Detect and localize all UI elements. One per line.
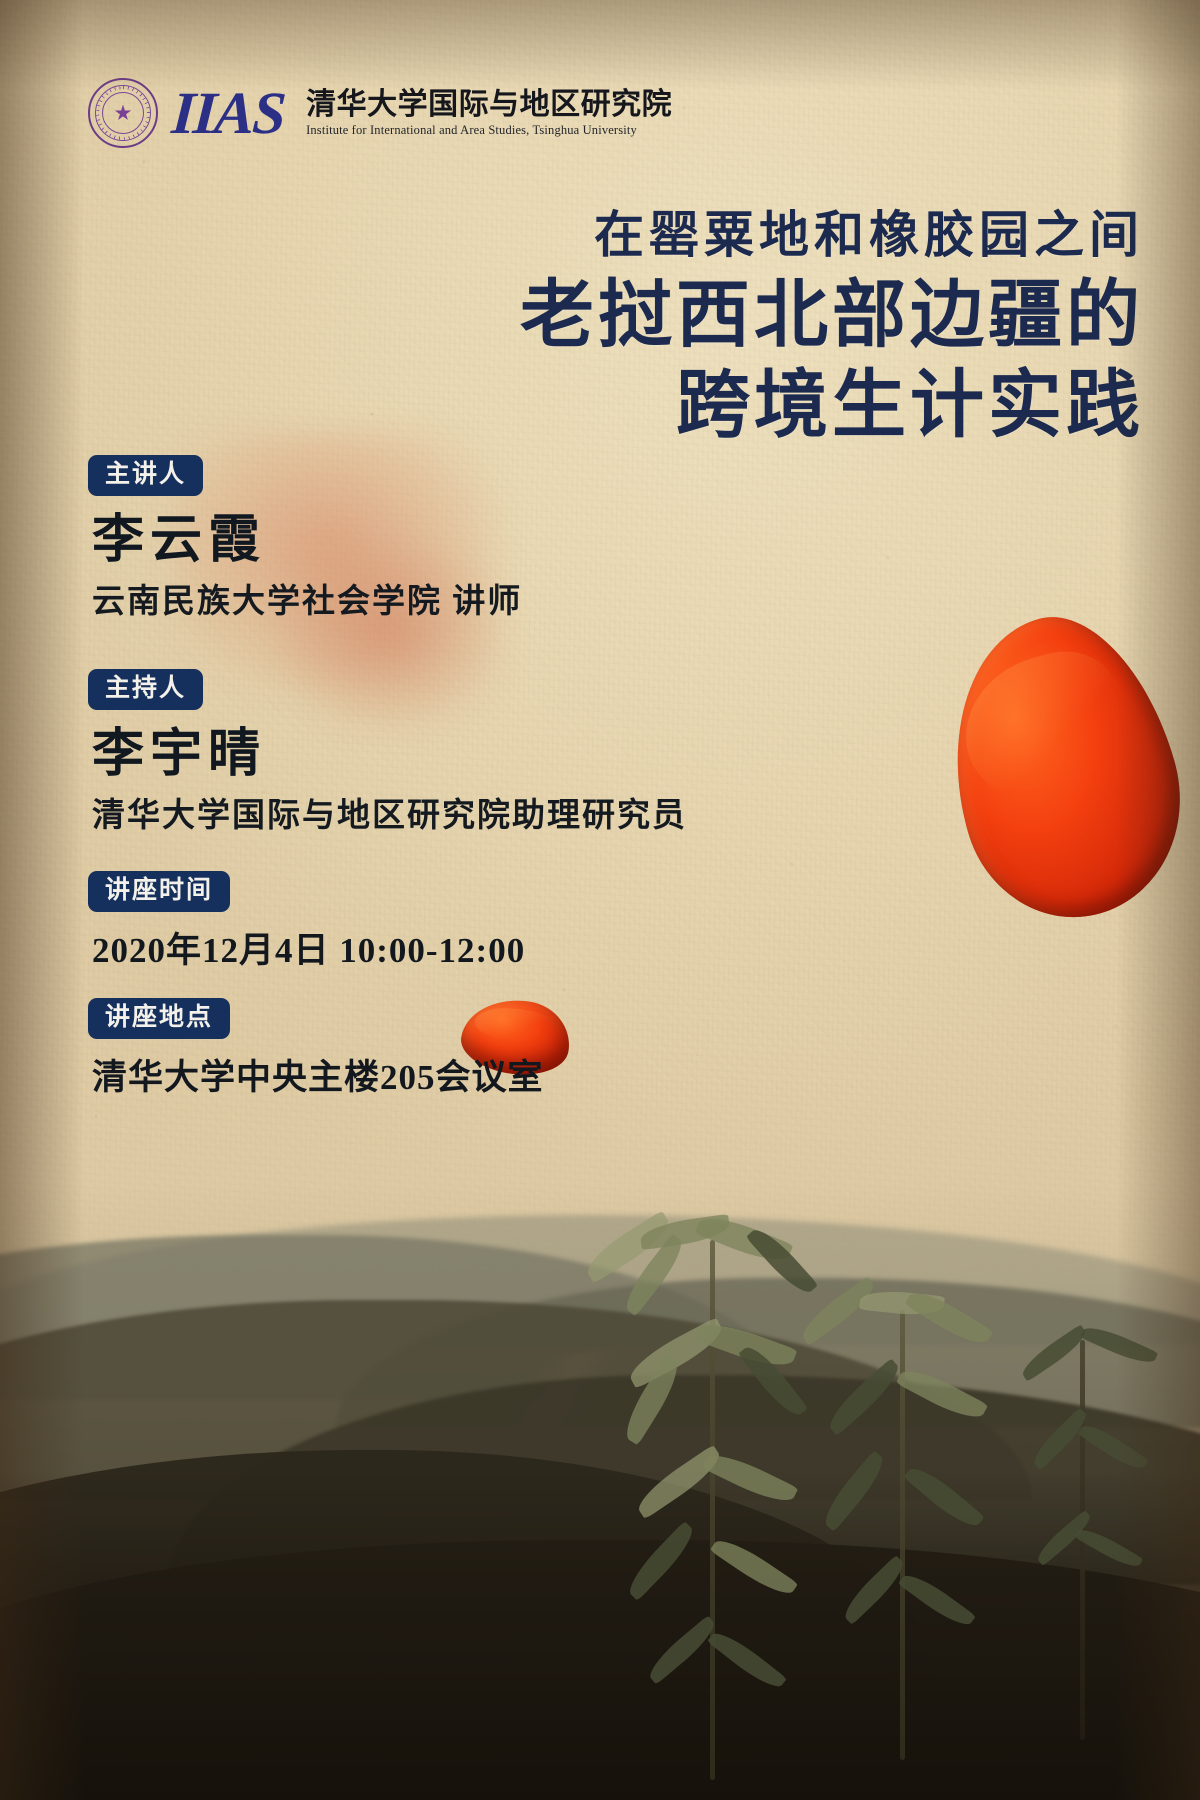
edge-vignette (0, 0, 1200, 1800)
lecture-poster: IIAS 清华大学国际与地区研究院 Institute for Internat… (0, 0, 1200, 1800)
